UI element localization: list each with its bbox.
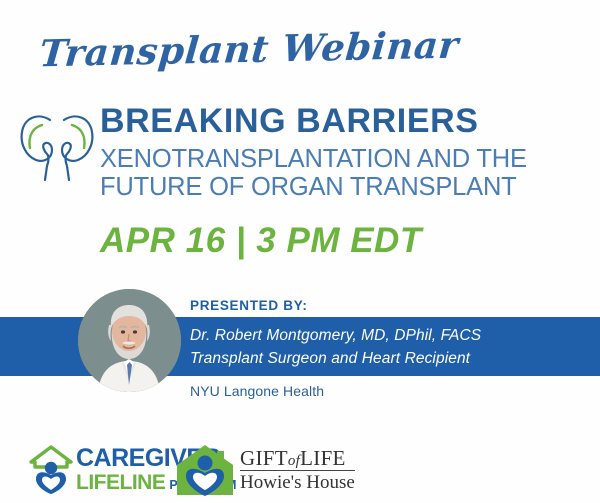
headline-subtitle: XENOTRANSPLANTATION AND THE FUTURE OF OR… (100, 145, 592, 202)
presenter-role: Transplant Surgeon and Heart Recipient (190, 347, 481, 370)
lifeline-word: LIFELINE (76, 472, 165, 493)
gift-word: GIFT (240, 446, 288, 470)
presenter-affiliation: NYU Langone Health (190, 383, 324, 399)
life-word: LIFE (300, 446, 346, 470)
headline-block: BREAKING BARRIERS XENOTRANSPLANTATION AN… (100, 104, 592, 202)
presenter-name: Dr. Robert Montgomery, MD, DPhil, FACS (190, 324, 481, 347)
gift-of-life-house-heart-icon (176, 443, 234, 497)
caregiver-house-person-icon (28, 443, 74, 495)
script-title: Transplant Webinar (38, 23, 461, 76)
kidney-pair-icon (14, 106, 100, 188)
of-word: of (288, 453, 300, 469)
presenter-details: Dr. Robert Montgomery, MD, DPhil, FACS T… (190, 324, 481, 371)
presented-by-label: PRESENTED BY: (190, 298, 308, 313)
webinar-poster: Transplant Webinar BREAKING BARRIERS XEN… (0, 0, 600, 503)
howies-house-word: Howie's House (240, 473, 355, 492)
logo-row: CAREGIVER LIFELINE PROGRAM GIFT (0, 440, 600, 503)
gift-of-life-logo-text: GIFTofLIFE Howie's House (240, 448, 355, 493)
headline-subtitle-line-1: XENOTRANSPLANTATION AND THE (100, 145, 592, 174)
page-title: BREAKING BARRIERS (100, 104, 592, 140)
presenter-portrait (78, 289, 181, 392)
event-date-time: APR 16 | 3 PM EDT (100, 221, 422, 261)
gift-of-life-logo: GIFTofLIFE Howie's House (176, 443, 355, 497)
headline-subtitle-line-2: FUTURE OF ORGAN TRANSPLANT (100, 173, 592, 202)
